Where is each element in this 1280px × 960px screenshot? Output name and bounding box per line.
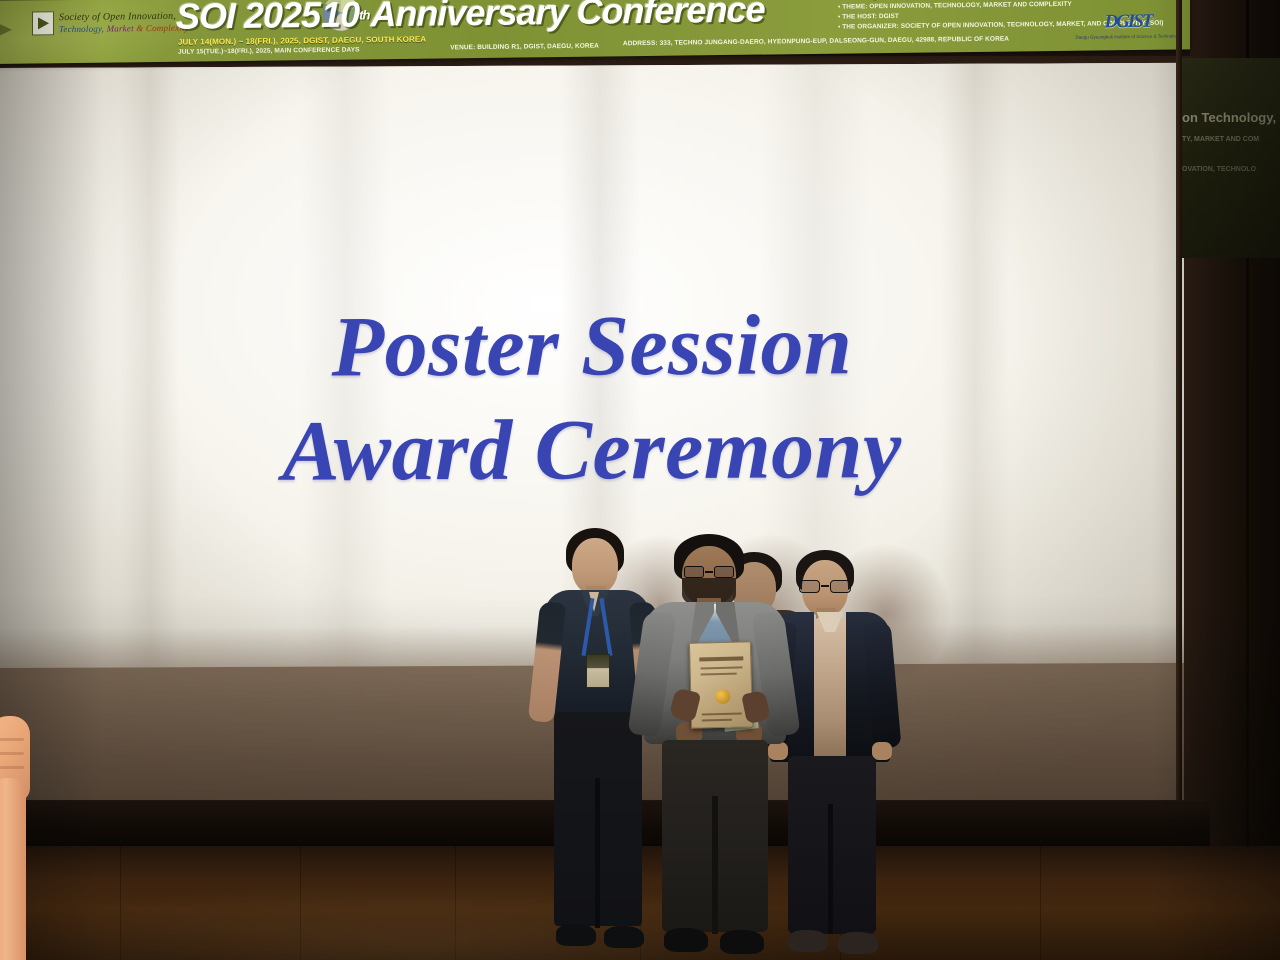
banner-address-col: ADDRESS: 333, TECHNO JUNGANG-DAERO, HYEO…: [623, 36, 1009, 48]
leg-separation: [828, 804, 833, 934]
soi-logo-market: Market: [107, 23, 134, 33]
soi-logo-amp: &: [136, 23, 143, 33]
side-banner-line-3: OVATION, TECHNOLO: [1182, 166, 1256, 173]
right-hand: [872, 742, 892, 760]
leg-separation: [712, 796, 718, 934]
certificate-seal-icon: [715, 689, 730, 704]
shoe: [720, 930, 764, 954]
banner-arrow-graphic: [0, 14, 12, 46]
soi-logo-line-1: Society of Open Innovation,: [59, 11, 189, 24]
person-center: [640, 534, 790, 960]
banner-address-line: ADDRESS: 333, TECHNO JUNGANG-DAERO, HYEO…: [623, 36, 1009, 48]
name-badge: [586, 654, 610, 688]
banner-dates-col: JULY 14(MON.) ~ 18(FRI.), 2025, DGIST, D…: [178, 35, 426, 56]
banner-right-info: Society of Open Innovation Technology, M…: [838, 0, 1118, 34]
banner-title-prefix: SOI 2025: [176, 0, 320, 36]
anniversary-emblem: 10 th: [321, 0, 369, 36]
banner-right-item: THE HOST: DGIST: [838, 10, 1118, 20]
banner-dates-secondary: JULY 15(TUE.)~18(FRI.), 2025, MAIN CONFE…: [178, 46, 426, 56]
banner-title-suffix: Anniversary Conference: [370, 0, 764, 34]
side-wall-banner: on Technology, TY, MARKET AND COM OVATIO…: [1176, 58, 1280, 258]
photo-scene: Poster Session Award Ceremony Society of…: [0, 0, 1280, 960]
dgist-logo: DGIST Daegu Gyeongbuk Institute of Scien…: [1086, 8, 1170, 43]
banner-venue-line: VENUE: BUILDING R1, DGIST, DAEGU, KOREA: [450, 43, 599, 52]
anniversary-suffix: th: [359, 0, 369, 35]
eyeglasses-icon: [684, 566, 734, 578]
banner-venue-col: VENUE: BUILDING R1, DGIST, DAEGU, KOREA: [450, 43, 599, 52]
soi-logo-line-2: Technology, Market & Complexity: [59, 23, 189, 35]
soi-play-icon: [32, 11, 54, 35]
dgist-wordmark: DGIST: [1104, 11, 1151, 34]
soi-logo-technology: Technology,: [59, 24, 104, 35]
dgist-subtitle: Daegu Gyeongbuk Institute of Science & T…: [1076, 33, 1181, 39]
shoe: [604, 926, 644, 948]
eyeglasses-icon: [799, 580, 851, 593]
leg-separation: [595, 778, 600, 928]
anniversary-number: 10: [321, 0, 359, 34]
audience-forearm: [0, 778, 26, 960]
shoe: [664, 928, 708, 952]
audience-hand: [0, 706, 38, 960]
award-certificate: [689, 641, 753, 729]
banner-right-item: THE ORGANIZER: SOCIETY OF OPEN INNOVATIO…: [838, 20, 1118, 30]
soi-logo: Society of Open Innovation, Technology, …: [32, 5, 192, 41]
shoe: [556, 924, 596, 946]
side-banner-line-2: TY, MARKET AND COM: [1182, 136, 1259, 143]
banner-dates-primary: JULY 14(MON.) ~ 18(FRI.), 2025, DGIST, D…: [178, 35, 426, 47]
banner-right-item: THEME: OPEN INNOVATION, TECHNOLOGY, MARK…: [838, 0, 1118, 10]
shoe: [788, 930, 828, 952]
certificate-heading: [699, 656, 743, 661]
shoe: [838, 932, 878, 954]
side-banner-line-1: on Technology,: [1182, 110, 1276, 125]
